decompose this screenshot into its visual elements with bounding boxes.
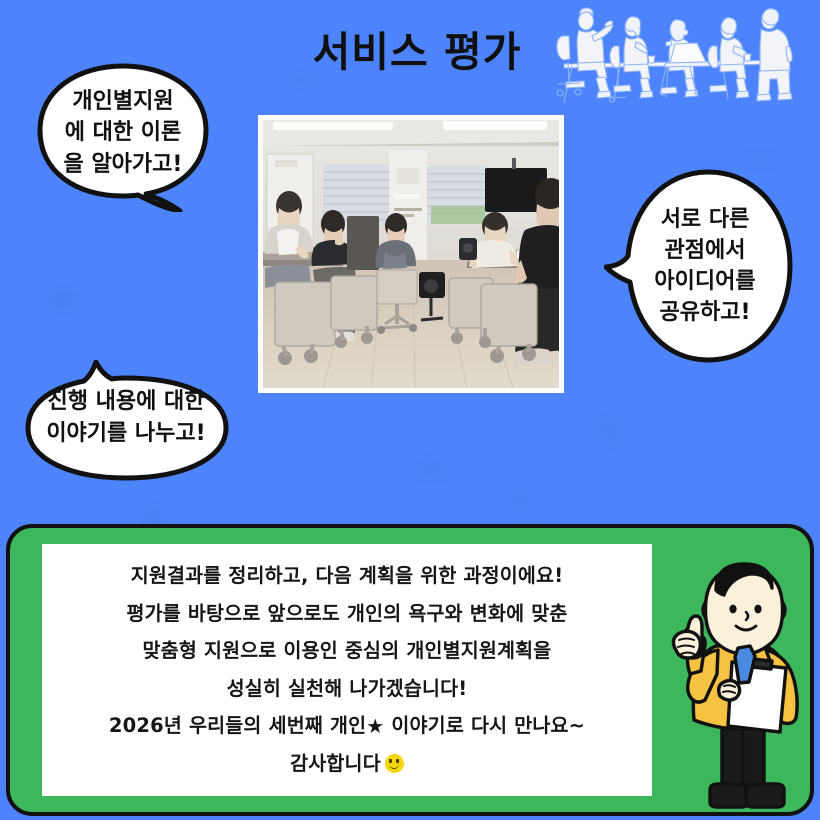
message-panel: 지원결과를 정리하고, 다음 계획을 위한 과정이에요! 평가를 바탕으로 앞으… [6, 524, 814, 816]
message-line-4: 성실히 실천해 나가겠습니다! [56, 679, 638, 699]
speech-bubble-3: 진행 내용에 대한 이야기를 나누고! [18, 360, 234, 482]
meeting-line-art-icon [548, 6, 810, 106]
speech-bubble-1: 개인별지원 에 대한 이론 을 알아가고! [28, 62, 218, 212]
message-thanks-text: 감사합니다 [290, 752, 381, 775]
page-title: 서비스 평가 [282, 30, 552, 75]
smiley-face-icon [385, 754, 404, 773]
meeting-photo [258, 115, 564, 393]
message-line-3: 맞춤형 지원으로 이용인 중심의 개인별지원계획을 [56, 641, 638, 661]
message-line-5-prefix: 2026년 우리들의 세번째 개인 [109, 714, 366, 737]
star-icon: ★ [366, 714, 384, 738]
poster-canvas: 서비스 평가 [0, 0, 820, 820]
message-line-1: 지원결과를 정리하고, 다음 계획을 위한 과정이에요! [56, 566, 638, 586]
message-line-2: 평가를 바탕으로 앞으로도 개인의 욕구와 변화에 맞춘 [56, 604, 638, 624]
message-card: 지원결과를 정리하고, 다음 계획을 위한 과정이에요! 평가를 바탕으로 앞으… [42, 544, 652, 796]
pointing-office-character-illustration [654, 554, 814, 816]
message-line-5: 2026년 우리들의 세번째 개인★ 이야기로 다시 만나요~ [56, 716, 638, 736]
speech-bubble-2: 서로 다른 관점에서 아이디어를 공유하고! [604, 168, 798, 364]
message-line-5-suffix: 이야기로 다시 만나요~ [391, 714, 585, 737]
message-line-6: 감사합니다 [56, 754, 638, 774]
